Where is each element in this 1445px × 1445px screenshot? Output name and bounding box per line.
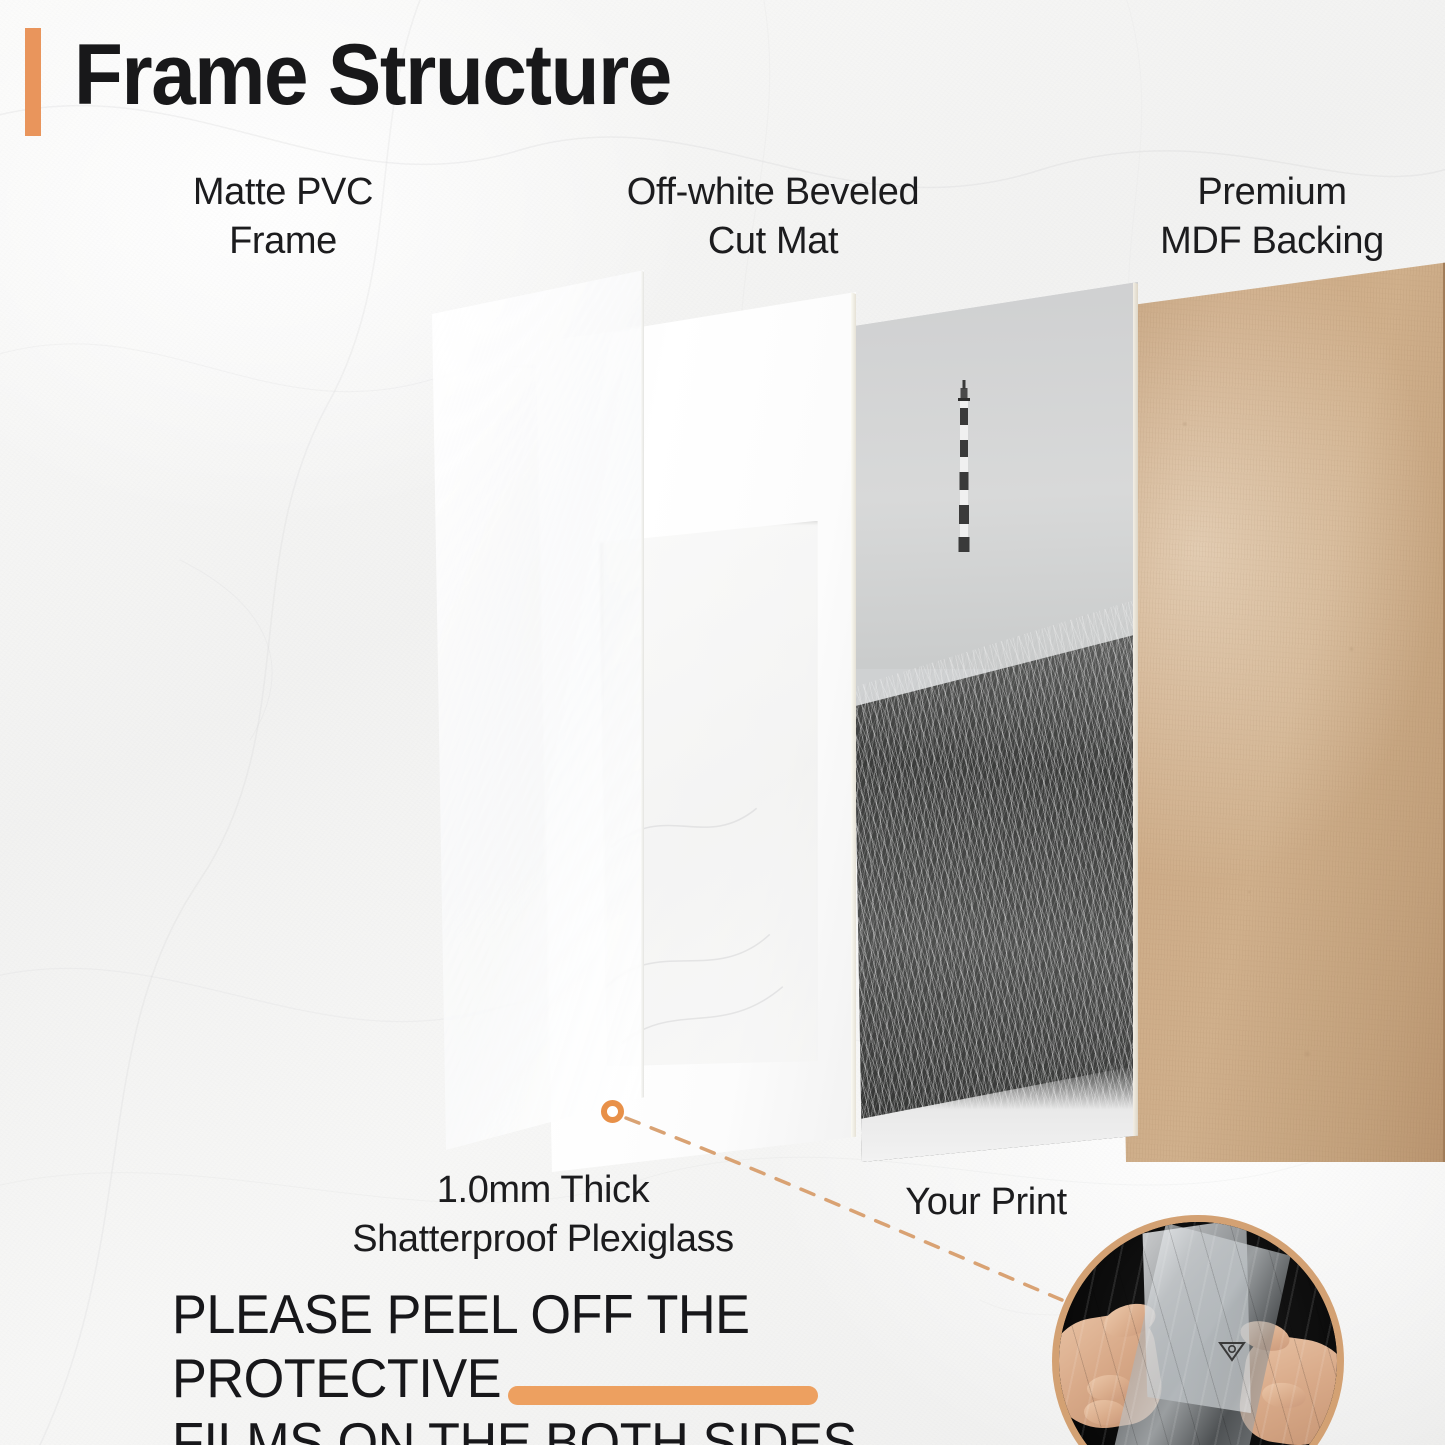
plexiglass-panel	[432, 270, 644, 1150]
label-your-print: Your Print	[836, 1178, 1136, 1227]
plexiglass-edge	[641, 270, 644, 1150]
mdf-grain-texture	[1110, 262, 1445, 1162]
print-edge	[1133, 282, 1138, 1162]
callout-marker-dot	[601, 1100, 624, 1123]
page-title: Frame Structure	[74, 26, 671, 125]
label-cut-mat: Off-white Beveled Cut Mat	[558, 168, 988, 267]
label-matte-pvc-frame: Matte PVC Frame	[118, 168, 448, 267]
label-plexiglass: 1.0mm Thick Shatterproof Plexiglass	[258, 1166, 828, 1265]
title-accent-bar	[25, 28, 41, 136]
lighthouse-icon	[954, 374, 974, 574]
peel-film-warning-text: PLEASE PEEL OFF THE PROTECTIVE FILMS ON …	[172, 1283, 1008, 1445]
plexiglass-sheen	[432, 270, 644, 1150]
photo-print-panel	[848, 282, 1138, 1162]
film-logo-icon	[1217, 1339, 1247, 1363]
film-crease-highlights	[1059, 1222, 1337, 1445]
protective-film-peel-inset	[1052, 1215, 1344, 1445]
mdf-backing-panel	[1110, 262, 1445, 1162]
infographic-canvas: Frame Structure	[0, 0, 1445, 1445]
print-sky	[848, 282, 1138, 669]
label-mdf-backing: Premium MDF Backing	[1098, 168, 1445, 267]
mat-edge	[851, 292, 856, 1172]
